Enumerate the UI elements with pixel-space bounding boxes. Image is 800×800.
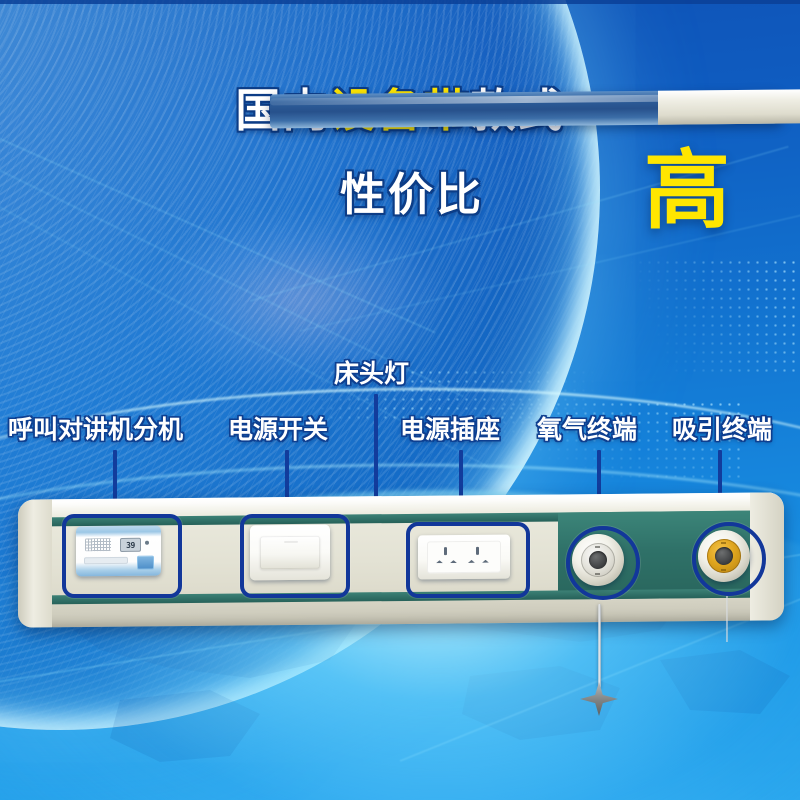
top-edge-bar xyxy=(0,0,800,4)
highlight-box-oxygen xyxy=(566,526,640,600)
callout-label-suction: 吸引终端 xyxy=(672,418,772,443)
callout-label-bed-lamp: 床头灯 xyxy=(334,362,409,387)
panel-lower-rail xyxy=(270,90,784,129)
rail-white-section xyxy=(658,87,800,125)
halftone-dots xyxy=(600,258,800,378)
callout-label-oxygen: 氧气终端 xyxy=(537,418,637,443)
callout-label-intercom: 呼叫对讲机分机 xyxy=(8,418,183,443)
panel-endcap-left xyxy=(18,499,52,627)
pull-cord xyxy=(598,604,601,688)
highlight-box-suction xyxy=(692,522,766,596)
emphasis-character: 高 xyxy=(644,148,730,234)
subheadline: 性价比 xyxy=(340,172,484,217)
promo-banner: 国内设备带款式 性价比 高 呼叫对讲机分机 电源开关 床头灯 电源插座 氧气终端… xyxy=(0,0,800,800)
callout-label-power-socket: 电源插座 xyxy=(400,418,500,443)
highlight-box-power-socket xyxy=(406,522,530,598)
highlight-box-intercom xyxy=(62,514,182,598)
highlight-box-power-switch xyxy=(240,514,350,598)
callout-label-power-switch: 电源开关 xyxy=(228,418,328,443)
suction-hose-cord xyxy=(726,596,728,642)
